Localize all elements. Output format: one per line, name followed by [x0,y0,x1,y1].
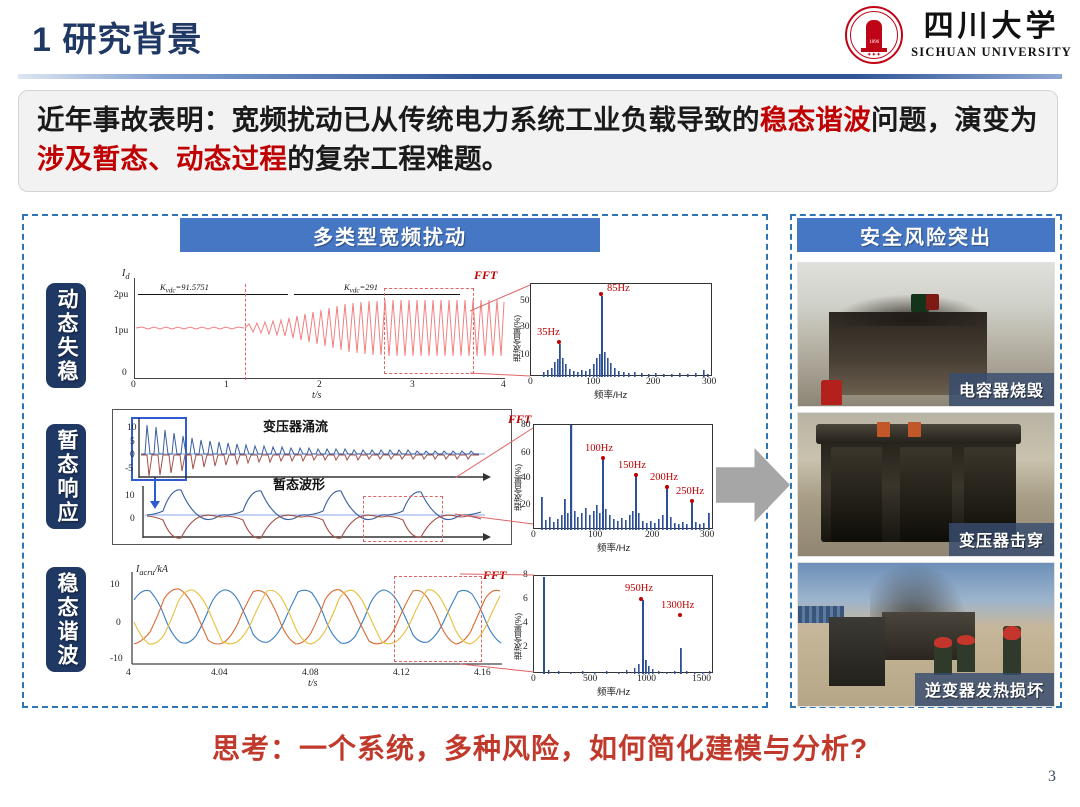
page-number: 3 [1048,768,1056,786]
peak-dot-1300hz [678,613,682,617]
banner-line2-tail: 的复杂工程难题。 [287,143,509,174]
r2b-ytick-10: 10 [125,491,135,501]
photo-caption-2: 变压器击穿 [949,523,1054,556]
photo-caption-3: 逆变器发热损坏 [915,673,1054,706]
r3-ytick-10: 10 [110,580,120,590]
photo-caption-1: 电容器烧毁 [949,373,1054,406]
peak-label-950hz: 950Hz [625,583,653,594]
r3-ytick-m10: -10 [110,654,123,664]
fft1-xtick-300: 300 [702,377,716,387]
fft3-ytick-4: 4 [523,618,528,628]
chart-fft-transient [533,424,713,529]
peak-dot-35hz [557,340,561,344]
peak-dot-150hz [634,473,638,477]
label-transient-wave: 暂态波形 [273,474,325,493]
banner-line2-text: 问题，演变为 [871,104,1038,135]
banner-line2-highlight2: 涉及暂态、动态过程 [37,143,287,174]
peak-label-150hz: 150Hz [618,460,646,471]
xtick-0: 0 [131,380,136,390]
r2-ytick-5: 5 [130,437,135,447]
fft-bars-3 [534,576,714,674]
r2b-ytick-0: 0 [130,514,135,524]
annotation-k2: Kvdc=291 [344,282,378,295]
ytick-0: 0 [122,368,127,378]
seal-year: 1896 [869,40,879,45]
fft3-ytick-8: 8 [523,570,528,580]
photo-capacitor-burnout: 电容器烧毁 [797,262,1055,407]
r3-xtick-408: 4.08 [302,668,319,678]
row-label-transient: 暂态响应 [46,424,86,529]
photo-inverter-thermal-damage: 逆变器发热损坏 [797,562,1055,707]
zoom-window-1 [384,288,474,374]
ytick-2pu: 2pu [114,290,128,300]
fft2-ytick-60: 60 [521,448,531,458]
university-logo: 1896 ✦✦✦ 四川大学 SICHUAN UNIVERSITY [845,6,1072,64]
r3-ytick-0: 0 [116,618,121,628]
r3-xtick-4: 4 [126,668,131,678]
chart-time-steady: Iacru/kA 10 0 -10 4 4.04 4.08 4.12 4.16 … [112,566,512,684]
peak-dot-85hz [599,292,603,296]
peak-label-100hz: 100Hz [585,443,613,454]
chart-transient-group: 变压器涌流 暂态波形 10 5 0 -5 10 0 [112,409,512,545]
fft1-xtick-200: 200 [646,377,660,387]
left-panel-heading: 多类型宽频扰动 [180,218,600,252]
banner-line2-highlight1: 谐波 [815,104,871,135]
xtick-4: 4 [501,380,506,390]
key-message-banner: 近年事故表明：宽频扰动已从传统电力系统工业负载导致的稳态谐波问题，演变为涉及暂态… [18,90,1058,192]
fft-tag-3: FFT [483,568,506,583]
sichuan-university-seal-icon: 1896 ✦✦✦ [845,6,903,64]
peak-dot-200hz [665,485,669,489]
closing-question: 思考：一个系统，多种风险，如何简化建模与分析? [0,727,1080,767]
peak-label-85hz: 85Hz [607,283,630,294]
zoom-window-blue [131,417,187,481]
fft1-ytick-30: 30 [520,322,530,332]
axis-title-id: Id [122,268,130,281]
zoom-arrow-icon [154,477,156,501]
peak-label-200hz: 200Hz [650,472,678,483]
axis-title-iacru: Iacru/kA [136,564,168,577]
peak-label-250hz: 250Hz [676,486,704,497]
fft2-xtick-200: 200 [645,530,659,540]
seal-arc-text: ✦✦✦ [867,52,881,58]
row-label-steady: 稳态谐波 [46,567,86,672]
r3-xtick-412: 4.12 [393,668,410,678]
fft1-xtick-100: 100 [586,377,600,387]
fft-tag-1: FFT [474,268,497,283]
fft3-xtick-1000: 1000 [637,674,656,684]
fft3-xlabel: 频率/Hz [597,684,630,698]
row-label-dynamic: 动态失稳 [46,283,86,388]
xtick-2: 2 [317,380,322,390]
fft3-xtick-500: 500 [583,674,597,684]
annotation-k1: Kvdc=91.5751 [160,282,209,295]
fft1-xtick-0: 0 [528,377,533,387]
ytick-1pu: 1pu [114,326,128,336]
fft3-ytick-6: 6 [523,594,528,604]
zoom-window-2 [363,496,443,542]
page-title: 1 研究背景 [32,12,202,61]
fft3-xtick-1500: 1500 [692,674,711,684]
fft2-ytick-80: 80 [521,420,531,430]
title-divider [18,74,1062,79]
axis-title-time-3: t/s [308,678,317,689]
xtick-3: 3 [410,380,415,390]
peak-label-35hz: 35Hz [537,327,560,338]
banner-line1-highlight: 稳态 [760,104,816,135]
fft2-xtick-0: 0 [531,530,536,540]
right-panel-heading: 安全风险突出 [797,218,1055,252]
peak-dot-950hz [639,597,643,601]
fft3-xtick-0: 0 [531,674,536,684]
peak-dot-100hz [601,456,605,460]
banner-line1-text: 近年事故表明：宽频扰动已从传统电力系统工业负载导致的 [37,104,760,135]
axis-title-time-1: t/s [312,390,321,401]
r3-xtick-416: 4.16 [474,668,491,678]
fft3-ytick-2: 2 [523,642,528,652]
fft2-xtick-100: 100 [588,530,602,540]
r2-ytick-m5: -5 [125,464,133,474]
r2-ytick-10: 10 [127,423,137,433]
logo-chinese-name: 四川大学 [924,12,1060,42]
fft1-ytick-50: 50 [520,296,530,306]
fft2-ytick-20: 20 [521,500,531,510]
fft1-ytick-10: 10 [520,350,530,360]
chart-fft-steady [533,575,713,673]
zoom-window-3 [394,576,482,662]
logo-english-name: SICHUAN UNIVERSITY [911,46,1072,59]
fft2-ytick-40: 40 [521,473,531,483]
peak-dot-250hz [690,499,694,503]
peak-label-1300hz: 1300Hz [661,600,694,611]
xtick-1: 1 [224,380,229,390]
fft1-xlabel: 频率/Hz [594,387,627,401]
fft2-xtick-300: 300 [700,530,714,540]
r3-xtick-404: 4.04 [211,668,228,678]
r2-ytick-0: 0 [130,450,135,460]
chart-time-dynamic: Id Kvdc=91.5751 Kvdc=291 2pu 1pu 0 0 1 2… [112,272,512,396]
photo-transformer-breakdown: 变压器击穿 [797,412,1055,557]
fft2-xlabel: 频率/Hz [597,540,630,554]
label-inrush: 变压器涌流 [263,416,328,435]
fft-bars-2 [534,425,714,530]
